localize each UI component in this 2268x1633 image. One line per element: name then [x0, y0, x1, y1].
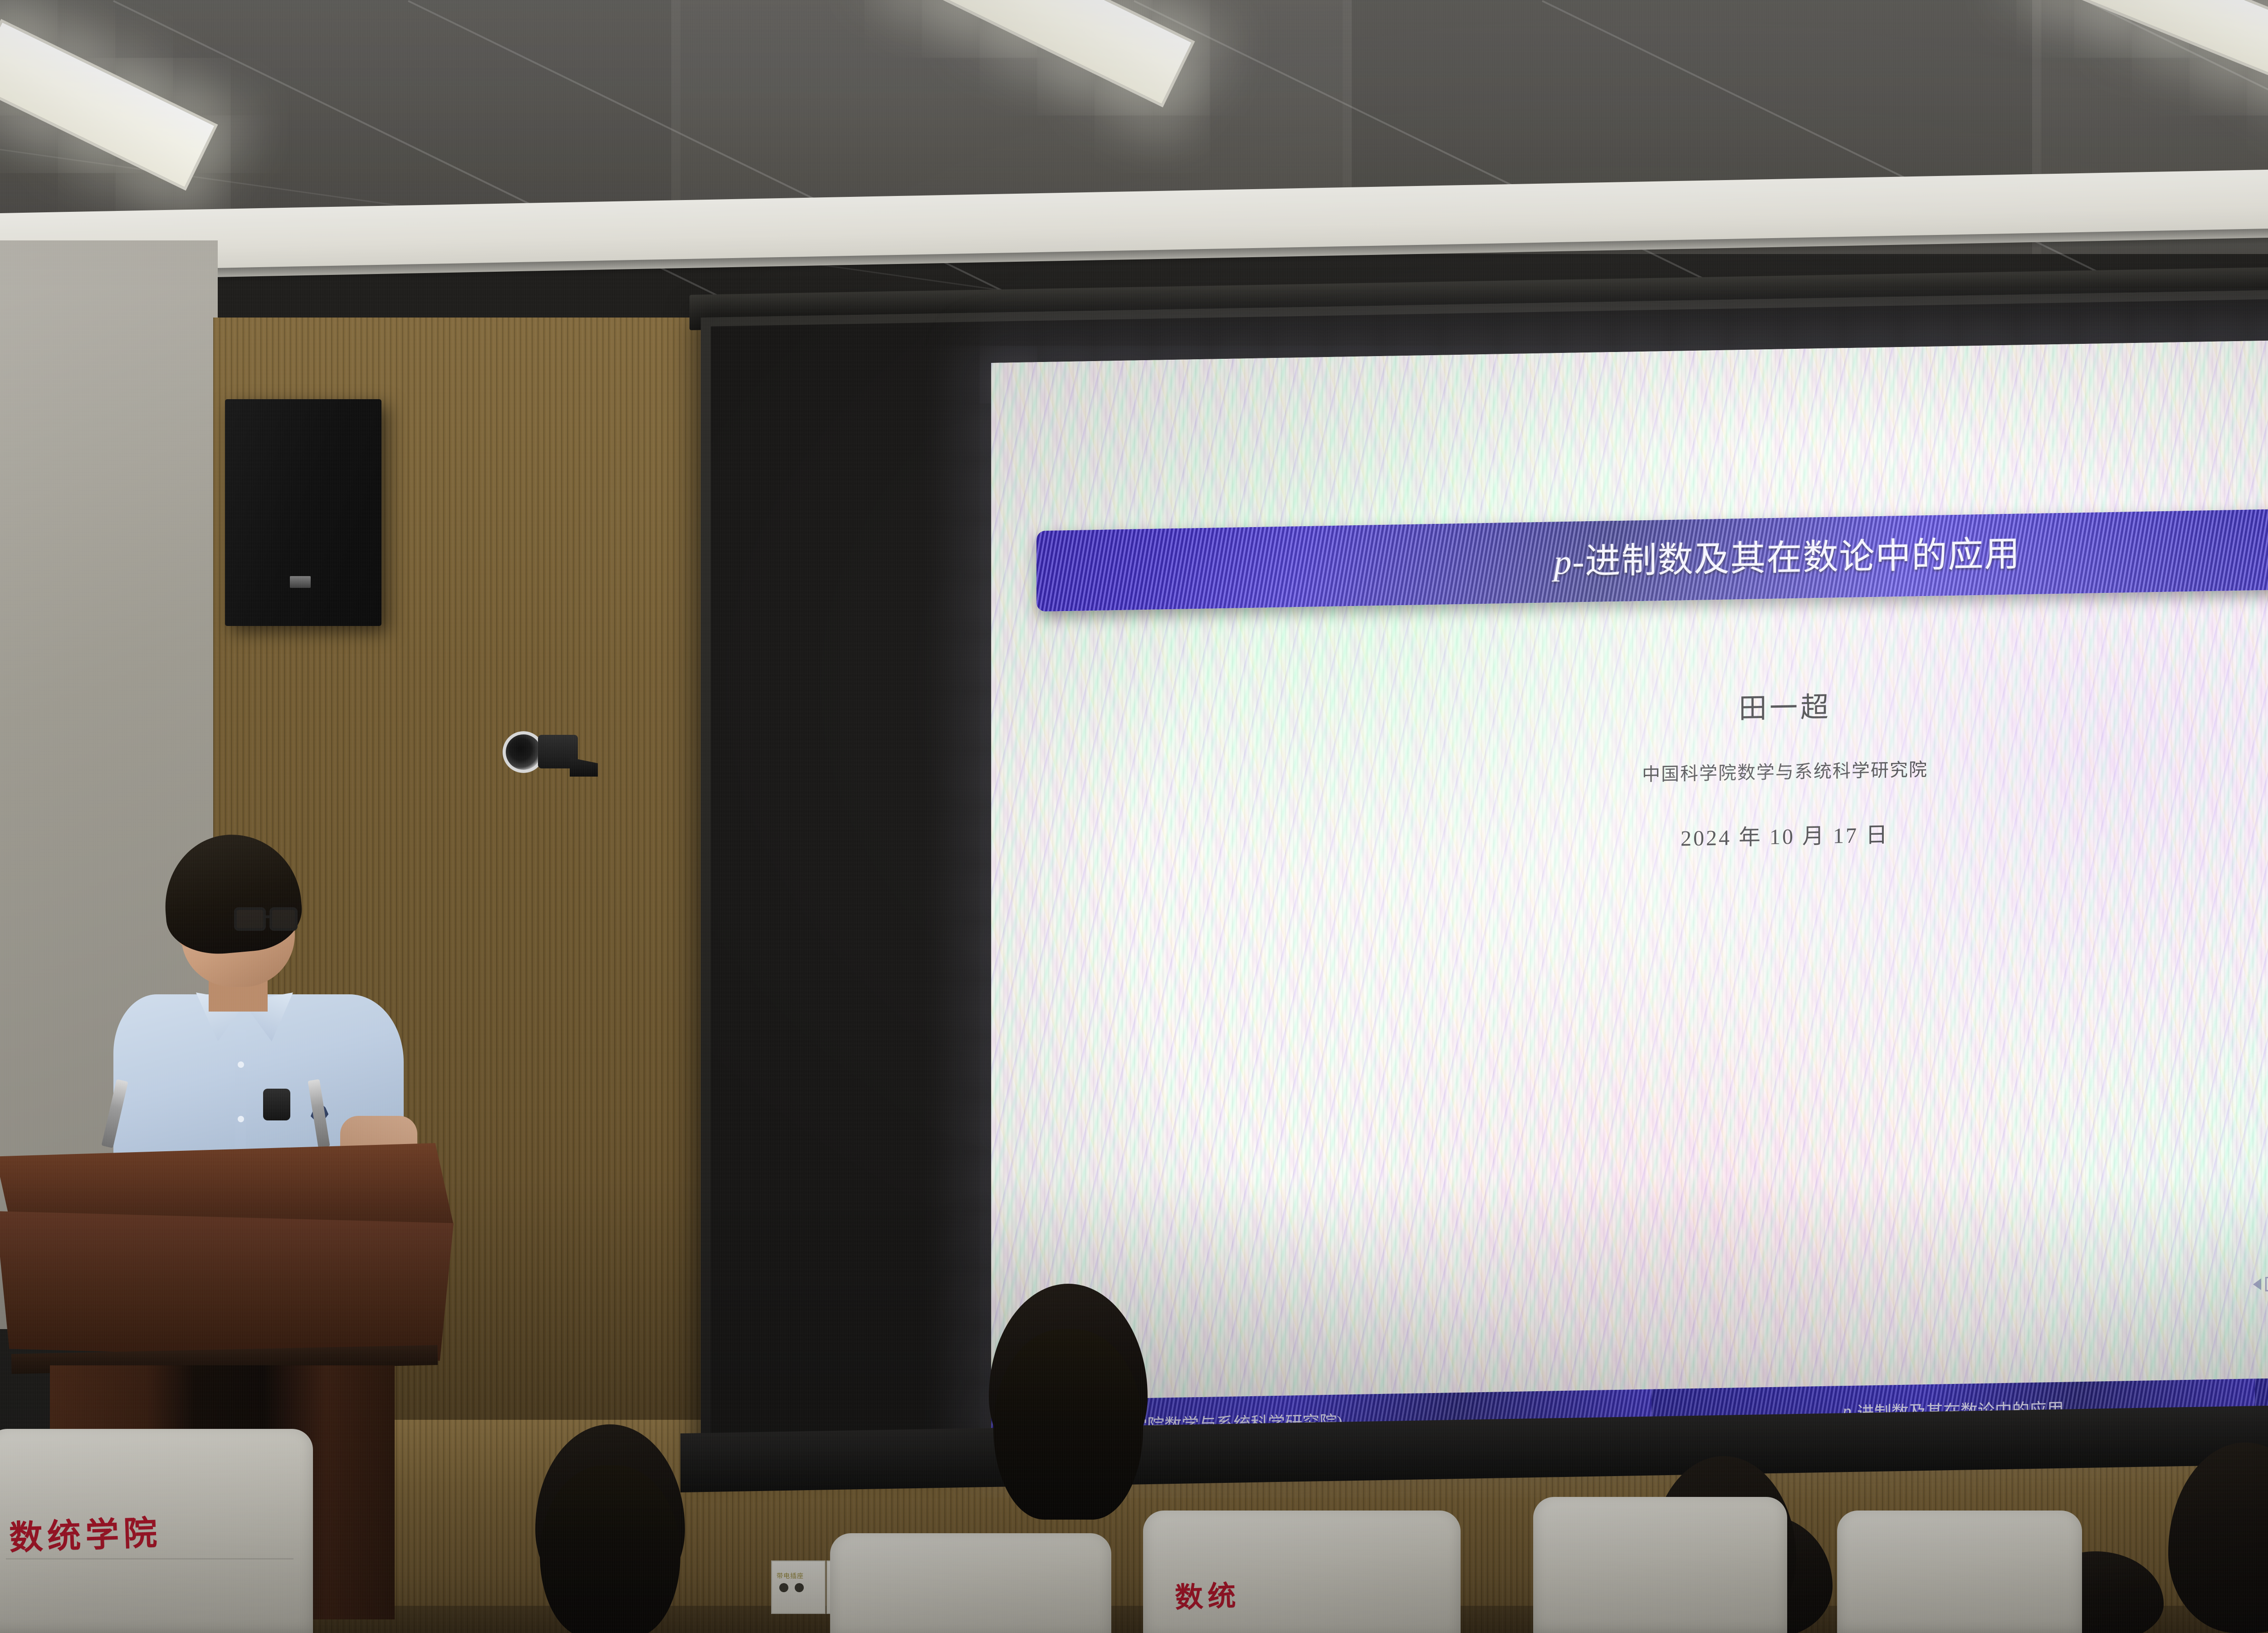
- slide-background: [991, 335, 2268, 1452]
- audience-head: [540, 1465, 680, 1633]
- lecture-hall-scene: 带电插座 p-进制数及其在数论中的应用 田一超 中国科学院数学与系统科学研究院 …: [0, 0, 2268, 1633]
- outlet-label: 带电插座: [777, 1571, 804, 1580]
- shirt-button: [238, 1061, 244, 1068]
- presenter-hair: [159, 829, 305, 958]
- audience-head: [993, 1329, 1143, 1520]
- chair-embroidery: 数统学院: [9, 1506, 163, 1560]
- glasses-icon: [234, 907, 302, 933]
- slide-title-p: p: [1554, 542, 1573, 582]
- slide-icon[interactable]: [2265, 1276, 2268, 1291]
- chair-cover-row: [1533, 1497, 1787, 1633]
- slide-title-rest: -进制数及其在数论中的应用: [1573, 534, 2021, 581]
- chair-seam: [6, 1558, 293, 1560]
- speaker-badge: [290, 576, 311, 588]
- ptz-camera: [503, 726, 589, 779]
- projected-slide: p-进制数及其在数论中的应用 田一超 中国科学院数学与系统科学研究院 2024 …: [991, 335, 2268, 1452]
- lapel-microphone: [263, 1089, 290, 1120]
- slide-nav-group[interactable]: [2253, 1276, 2268, 1291]
- chair-cover-front-left: 数统学院: [0, 1429, 313, 1633]
- wall-speaker: [225, 399, 381, 626]
- podium-face: [0, 1211, 454, 1361]
- slide-title: p-进制数及其在数论中的应用: [1036, 527, 2268, 589]
- presenter: [113, 835, 404, 1193]
- chair-cover-row: [830, 1533, 1111, 1633]
- slide-prev-icon[interactable]: [2253, 1278, 2261, 1290]
- wall-outlet: 带电插座: [771, 1560, 826, 1614]
- outlet-sockets: [779, 1583, 804, 1592]
- chair-cover-mid: 数统: [1143, 1511, 1461, 1633]
- chair-cover-row: [1837, 1511, 2082, 1633]
- chair-embroidery: 数统: [1174, 1573, 1241, 1616]
- shirt-button: [238, 1116, 244, 1122]
